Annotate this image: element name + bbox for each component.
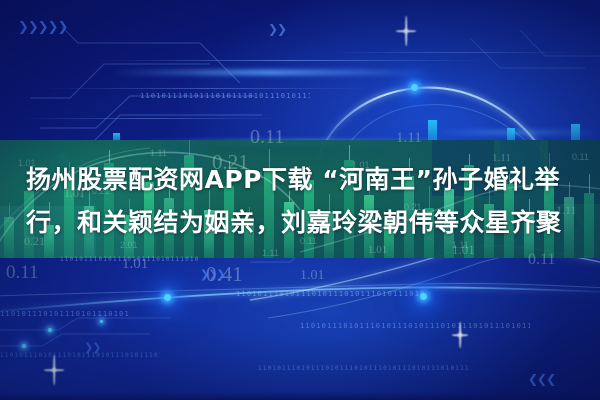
headline-line-2: 行，和关颖结为姻亲，刘嘉玲梁朝伟等众星齐聚: [26, 201, 586, 244]
headline-line-1: 扬州股票配资网APP下载 “河南王”孙子婚礼举: [26, 158, 586, 201]
bottom-strip: [0, 392, 600, 400]
page-title: 扬州股票配资网APP下载 “河南王”孙子婚礼举 行，和关颖结为姻亲，刘嘉玲梁朝伟…: [26, 158, 586, 244]
banner-canvas: 1.010.211.110.412.010.111.010.211.110.41…: [0, 0, 600, 400]
